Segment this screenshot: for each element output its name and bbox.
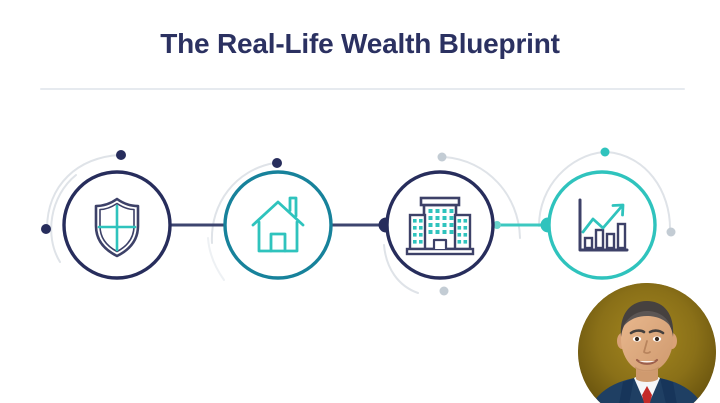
arc-dot-step4-right (667, 228, 676, 237)
step-2-node[interactable] (225, 172, 331, 278)
arc-dot-step4-top (601, 148, 610, 157)
step-4-ring (549, 172, 655, 278)
arc-dot-step3-top (438, 153, 447, 162)
presenter-headshot (578, 283, 716, 403)
arc-dot-step1-top (116, 150, 126, 160)
slide-canvas: The Real-Life Wealth Blueprint (0, 0, 720, 403)
arc-dot-step3-bottom (440, 287, 449, 296)
step-1-node[interactable] (64, 172, 170, 278)
step-4-node[interactable] (549, 172, 655, 278)
step-2-ring (225, 172, 331, 278)
lead-in-dot (41, 224, 51, 234)
arc-dot-step2-top (272, 158, 282, 168)
avatar (578, 283, 716, 403)
step-3-node[interactable] (387, 172, 493, 278)
